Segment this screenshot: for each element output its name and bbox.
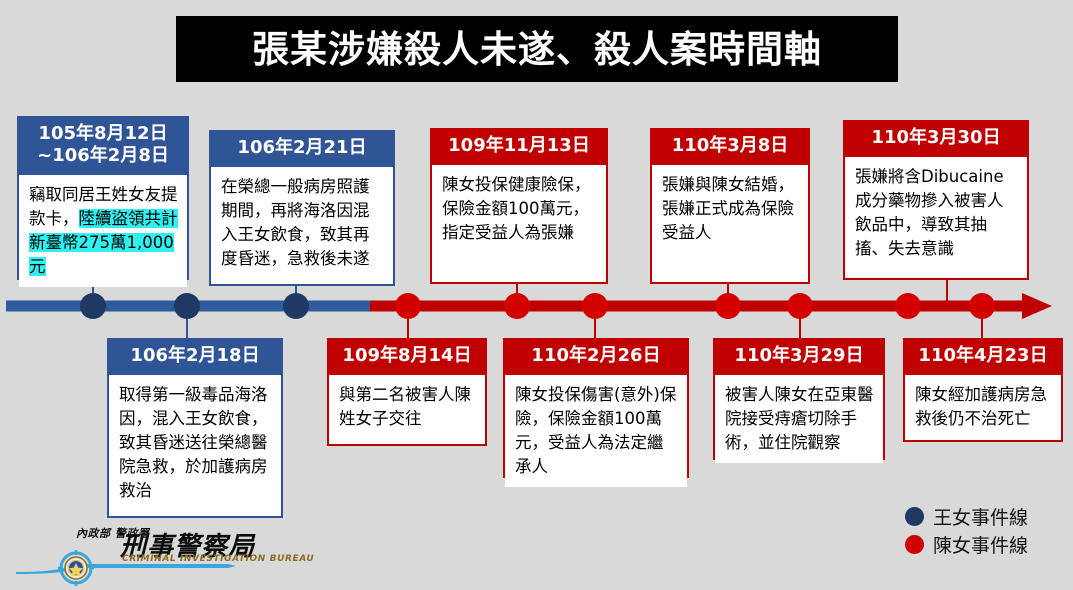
timeline-card-4-date: 110年3月8日 (652, 130, 808, 163)
timeline-dot-7 (395, 293, 421, 319)
legend-label-chen: 陳女事件線 (933, 531, 1028, 558)
legend-dot-blue-icon (905, 507, 924, 526)
timeline-arrow-head (1022, 293, 1052, 319)
timeline-card-5[interactable]: 110年3月30日 張嫌將含Dibucaine成分藥物摻入被害人飲品中，導致其抽… (843, 120, 1029, 280)
timeline-card-10-body: 陳女經加護病房急救後仍不治死亡 (905, 373, 1061, 440)
timeline-card-8[interactable]: 110年2月26日 陳女投保傷害(意外)保險，保險金額100萬元，受益人為法定繼… (503, 338, 689, 478)
timeline-card-2-date: 106年2月21日 (211, 132, 393, 165)
timeline-dot-5 (895, 293, 921, 319)
timeline-card-10-date: 110年4月23日 (905, 340, 1061, 373)
page-title-banner: 張某涉嫌殺人未遂、殺人案時間軸 (176, 16, 898, 82)
legend-item-chen: 陳女事件線 (905, 530, 1065, 558)
timeline-dot-9 (787, 293, 813, 319)
timeline-card-5-date: 110年3月30日 (845, 122, 1027, 155)
timeline-card-9[interactable]: 110年3月29日 被害人陳女在亞東醫院接受痔瘡切除手術，並住院觀察 (713, 338, 885, 460)
timeline-card-5-body: 張嫌將含Dibucaine成分藥物摻入被害人飲品中，導致其抽搐、失去意識 (845, 155, 1027, 278)
timeline-card-9-body: 被害人陳女在亞東醫院接受痔瘡切除手術，並住院觀察 (715, 373, 883, 463)
timeline-card-3[interactable]: 109年11月13日 陳女投保健康險保，保險金額100萬元，指定受益人為張嫌 (430, 128, 608, 284)
timeline-card-6[interactable]: 106年2月18日 取得第一級毒品海洛因，混入王女飲食，致其昏迷送往榮總醫院急救… (107, 338, 283, 518)
timeline-dot-1 (80, 293, 106, 319)
timeline-card-6-body: 取得第一級毒品海洛因，混入王女飲食，致其昏迷送往榮總醫院急救，於加護病房救治 (109, 373, 281, 516)
timeline-card-3-date: 109年11月13日 (432, 130, 606, 163)
agency-logo: 內政部 警政署 刑事警察局 CRIMINAL INVESTIGATION BUR… (14, 524, 244, 586)
legend-dot-red-icon (905, 535, 924, 554)
timeline-dot-6 (174, 293, 200, 319)
timeline-card-7[interactable]: 109年8月14日 與第二名被害人陳姓女子交往 (327, 338, 487, 446)
page-title: 張某涉嫌殺人未遂、殺人案時間軸 (252, 31, 822, 68)
timeline-card-8-body: 陳女投保傷害(意外)保險，保險金額100萬元，受益人為法定繼承人 (505, 373, 687, 487)
timeline-card-1[interactable]: 105年8月12日 ~106年2月8日 竊取同居王姓女友提款卡，陸續盜領共計新臺… (17, 116, 189, 280)
timeline-dot-10 (969, 293, 995, 319)
timeline-card-1-body: 竊取同居王姓女友提款卡，陸續盜領共計新臺幣275萬1,000元 (19, 173, 187, 287)
timeline-card-2-body: 在榮總一般病房照護期間，再將海洛因混入王女飲食，致其再度昏迷，急救後未遂 (211, 165, 393, 284)
legend: 王女事件線 陳女事件線 (905, 502, 1065, 558)
legend-item-wang: 王女事件線 (905, 502, 1065, 530)
legend-label-wang: 王女事件線 (933, 503, 1028, 530)
timeline-card-3-body: 陳女投保健康險保，保險金額100萬元，指定受益人為張嫌 (432, 163, 606, 282)
timeline-card-6-date: 106年2月18日 (109, 340, 281, 373)
agency-name-english: CRIMINAL INVESTIGATION BUREAU (122, 554, 314, 564)
timeline-card-2[interactable]: 106年2月21日 在榮總一般病房照護期間，再將海洛因混入王女飲食，致其再度昏迷… (209, 130, 395, 286)
timeline-card-9-date: 110年3月29日 (715, 340, 883, 373)
timeline-dot-2 (283, 293, 309, 319)
timeline-card-7-date: 109年8月14日 (329, 340, 485, 373)
timeline-card-10[interactable]: 110年4月23日 陳女經加護病房急救後仍不治死亡 (903, 338, 1063, 442)
timeline-card-4-body: 張嫌與陳女結婚，張嫌正式成為保險受益人 (652, 163, 808, 282)
timeline-card-1-date: 105年8月12日 ~106年2月8日 (19, 118, 187, 173)
timeline-dot-3 (504, 293, 530, 319)
timeline-card-4[interactable]: 110年3月8日 張嫌與陳女結婚，張嫌正式成為保險受益人 (650, 128, 810, 284)
timeline-card-8-date: 110年2月26日 (505, 340, 687, 373)
timeline-card-7-body: 與第二名被害人陳姓女子交往 (329, 373, 485, 444)
timeline-dot-8 (582, 293, 608, 319)
timeline-dot-4 (715, 293, 741, 319)
